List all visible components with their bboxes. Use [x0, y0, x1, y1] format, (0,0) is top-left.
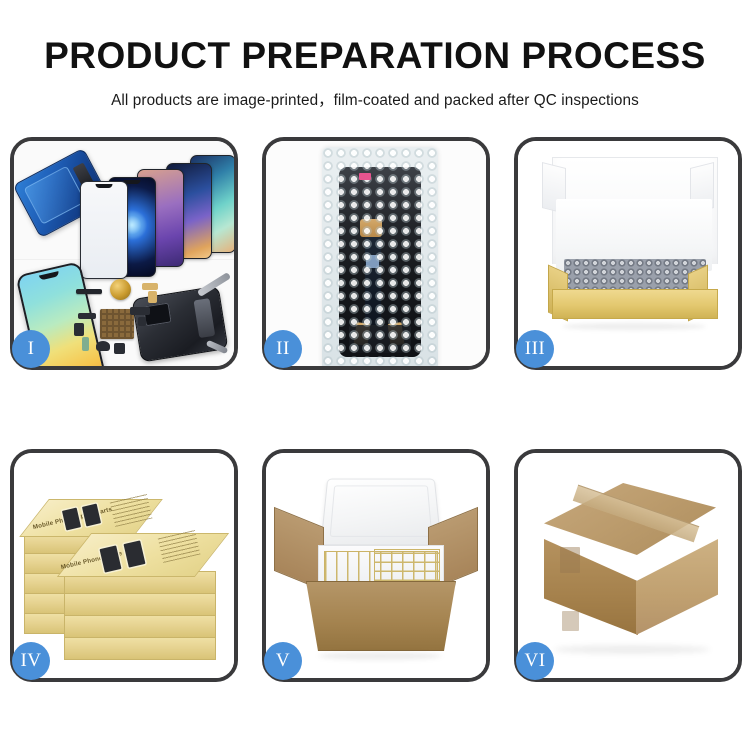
- drop-shadow: [318, 652, 442, 660]
- small-part-c: [96, 341, 110, 351]
- pink-tab-marker: [359, 173, 371, 180]
- step-image-1: [14, 141, 234, 366]
- product-preparation-infographic: PRODUCT PREPARATION PROCESS All products…: [0, 0, 750, 750]
- step-badge-5: V: [264, 642, 302, 680]
- step-badge-4: IV: [12, 642, 50, 680]
- flex-cable-part-b: [148, 291, 157, 303]
- process-steps-grid: I II: [10, 137, 742, 682]
- notch-icon: [96, 184, 113, 188]
- step-panel-1[interactable]: I: [10, 137, 238, 370]
- flex-cable-part-a: [142, 283, 158, 290]
- step-panel-4[interactable]: Mobile Phone Spare Parts Mobile Phone Sp…: [10, 449, 238, 682]
- step-image-5: [266, 453, 486, 678]
- small-part-f: [138, 317, 146, 326]
- small-part-b: [74, 323, 84, 336]
- step-panel-2[interactable]: II: [262, 137, 490, 370]
- speaker-coil-part: [110, 279, 131, 300]
- box-tray-front: [552, 289, 718, 319]
- drop-shadow: [562, 323, 706, 330]
- box-stack: Mobile Phone Spare Parts Mobile Phone Sp…: [20, 479, 232, 671]
- step-panel-3[interactable]: III: [514, 137, 742, 370]
- step-image-3: [518, 141, 738, 366]
- step-image-6: [518, 453, 738, 678]
- phone-screen-fan: [106, 153, 234, 265]
- stacked-box: [64, 593, 216, 616]
- page-title: PRODUCT PREPARATION PROCESS: [0, 0, 750, 77]
- step-badge-2: II: [264, 330, 302, 368]
- chip-array-part: [100, 309, 134, 339]
- bubble-texture: [322, 147, 438, 366]
- carton-seam-tab-upper: [560, 547, 580, 573]
- step-image-4: Mobile Phone Spare Parts Mobile Phone Sp…: [14, 453, 234, 678]
- stacked-box: [64, 615, 216, 638]
- step-panel-6[interactable]: VI: [514, 449, 742, 682]
- step-badge-3: III: [516, 330, 554, 368]
- page-subtitle: All products are image-printed，film-coat…: [0, 77, 750, 110]
- drop-shadow: [554, 645, 710, 654]
- phone-screen-1: [80, 181, 128, 279]
- foam-lid: [320, 479, 441, 546]
- header: PRODUCT PREPARATION PROCESS All products…: [0, 0, 750, 110]
- carton-body: [306, 581, 456, 651]
- step-panel-5[interactable]: V: [262, 449, 490, 682]
- bubble-wrapped-contents: [564, 259, 706, 293]
- earpiece-part: [76, 289, 102, 294]
- small-part-a: [78, 313, 96, 319]
- small-part-d: [114, 343, 125, 354]
- step-image-2: [266, 141, 486, 366]
- carton-seam-tab-lower: [562, 611, 579, 631]
- bubble-wrap-bag: [322, 147, 438, 366]
- small-part-e: [130, 307, 150, 315]
- step-badge-1: I: [12, 330, 50, 368]
- phone-chassis-part: [132, 286, 229, 363]
- small-part-g: [82, 337, 89, 351]
- stacked-box: [64, 637, 216, 660]
- step-badge-6: VI: [516, 642, 554, 680]
